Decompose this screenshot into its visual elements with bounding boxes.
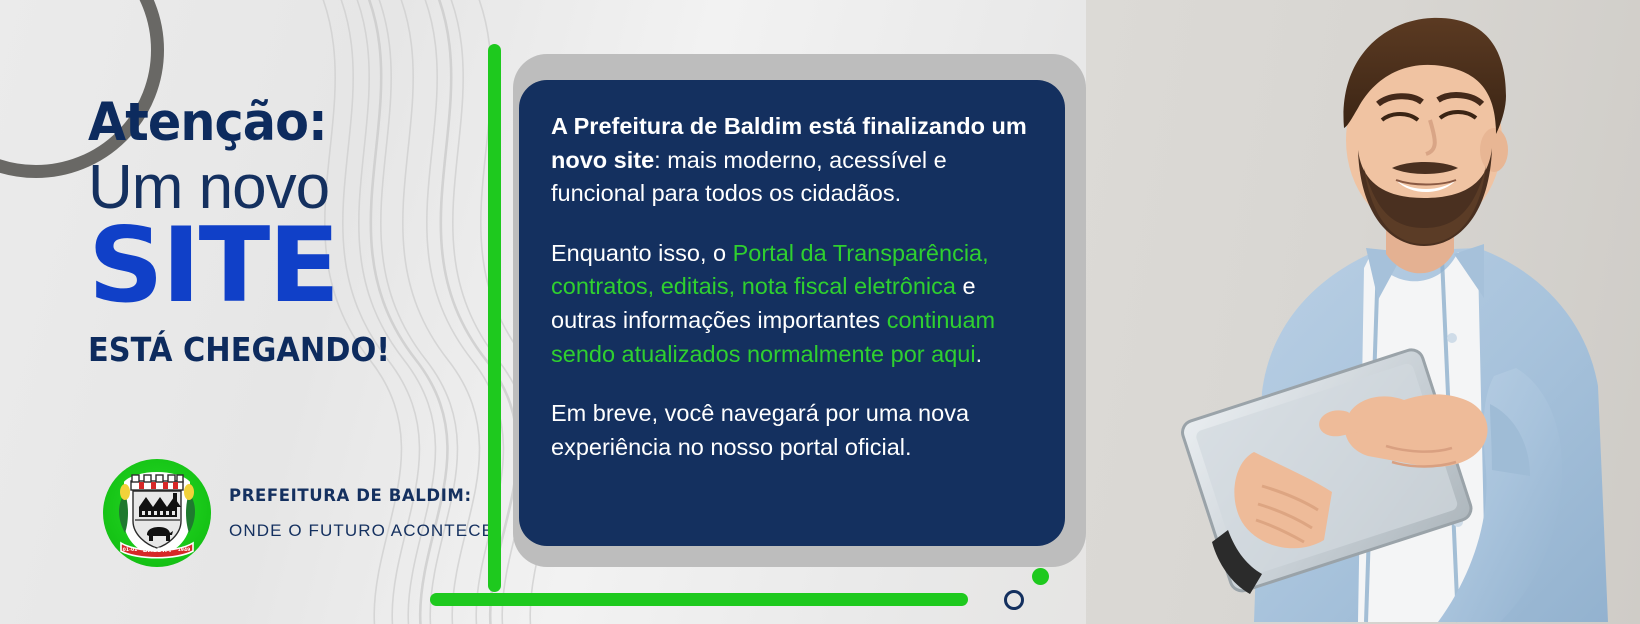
message-paragraph-1: A Prefeitura de Baldim está finalizando …	[551, 110, 1035, 211]
message-card: A Prefeitura de Baldim está finalizando …	[519, 80, 1065, 546]
brand-name: PREFEITURA DE BALDIM:	[229, 486, 494, 505]
headline-attention: Atenção:	[88, 96, 395, 149]
headline-coming: ESTÁ CHEGANDO!	[88, 330, 392, 369]
headline-column: Atenção: Um novo SITE ESTÁ CHEGANDO!	[0, 0, 470, 624]
brand-lockup: BALDIM 01-01 1949 PREFEITURA DE BALDIM: …	[103, 459, 494, 567]
accent-bar-horizontal	[430, 593, 968, 606]
svg-text:01-01: 01-01	[123, 547, 138, 553]
message-paragraph-2: Enquanto isso, o Portal da Transparência…	[551, 237, 1035, 371]
photo-man-with-tablet	[1086, 0, 1640, 624]
brand-text: PREFEITURA DE BALDIM: ONDE O FUTURO ACON…	[229, 486, 494, 541]
headline-group: Atenção: Um novo SITE ESTÁ CHEGANDO!	[88, 96, 418, 369]
message-paragraph-3: Em breve, você navegará por uma nova exp…	[551, 397, 1035, 464]
message-p2-end: .	[976, 341, 983, 367]
message-p2-intro: Enquanto isso, o	[551, 240, 733, 266]
accent-dot-outline	[1004, 590, 1024, 610]
svg-text:1949: 1949	[178, 547, 191, 553]
baldim-coat-of-arms-icon: BALDIM 01-01 1949	[103, 459, 211, 567]
accent-bar-vertical	[488, 44, 501, 592]
svg-text:BALDIM: BALDIM	[143, 546, 171, 554]
announcement-banner: Atenção: Um novo SITE ESTÁ CHEGANDO!	[0, 0, 1640, 624]
accent-dot-filled	[1032, 568, 1049, 585]
headline-site: SITE	[88, 217, 425, 316]
brand-slogan: ONDE O FUTURO ACONTECE	[229, 521, 494, 541]
